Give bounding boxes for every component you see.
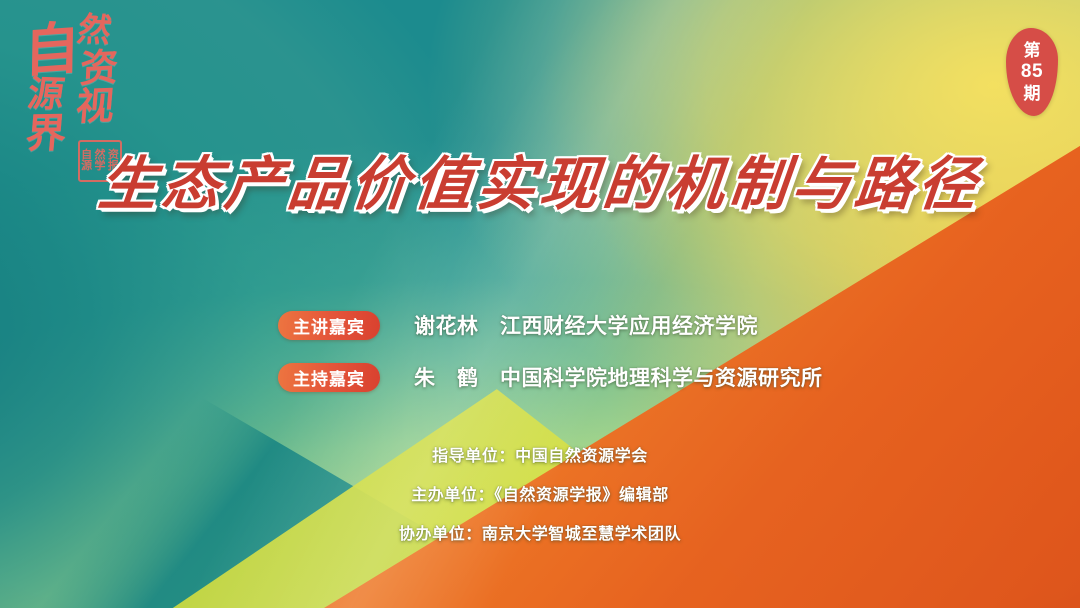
brand-logo-characters: 自 然 资 源 视 界 — [22, 12, 126, 138]
guest-name-affiliation-host: 朱 鹤 中国科学院地理科学与资源研究所 — [414, 362, 823, 392]
organization-line-host: 主办单位：《自然资源学报》编辑部 — [411, 481, 669, 505]
page-title: 生态产品价值实现的机制与路径 — [0, 156, 1080, 214]
guest-name-affiliation-speaker: 谢花林 江西财经大学应用经济学院 — [414, 310, 758, 340]
guest-list: 主讲嘉宾 谢花林 江西财经大学应用经济学院 主持嘉宾 朱 鹤 中国科学院地理科学… — [278, 310, 823, 392]
logo-char-ran: 然 — [75, 15, 113, 47]
issue-prefix: 第 — [1024, 41, 1041, 60]
role-badge-speaker: 主讲嘉宾 — [278, 311, 380, 340]
guest-row-host: 主持嘉宾 朱 鹤 中国科学院地理科学与资源研究所 — [278, 362, 823, 392]
logo-char-zi: 自 — [24, 24, 81, 80]
organization-list: 指导单位：中国自然资源学会 主办单位：《自然资源学报》编辑部 协办单位：南京大学… — [0, 442, 1080, 544]
organization-line-coorganizer: 协办单位：南京大学智城至慧学术团队 — [399, 520, 681, 544]
issue-suffix: 期 — [1024, 84, 1041, 103]
guest-row-speaker: 主讲嘉宾 谢花林 江西财经大学应用经济学院 — [278, 310, 823, 340]
logo-char-shi: 视 — [74, 89, 115, 125]
logo-char-jie: 界 — [24, 116, 67, 154]
organization-line-guidance: 指导单位：中国自然资源学会 — [432, 442, 648, 466]
issue-number: 85 — [1021, 61, 1043, 82]
logo-char-yuan: 源 — [26, 77, 67, 111]
logo-char-zi2: 资 — [79, 51, 119, 88]
role-badge-host: 主持嘉宾 — [278, 363, 380, 392]
poster-canvas: 自 然 资 源 视 界 自 然 资 源 学 报 第 85 期 生态产品价值实现的… — [0, 0, 1080, 608]
